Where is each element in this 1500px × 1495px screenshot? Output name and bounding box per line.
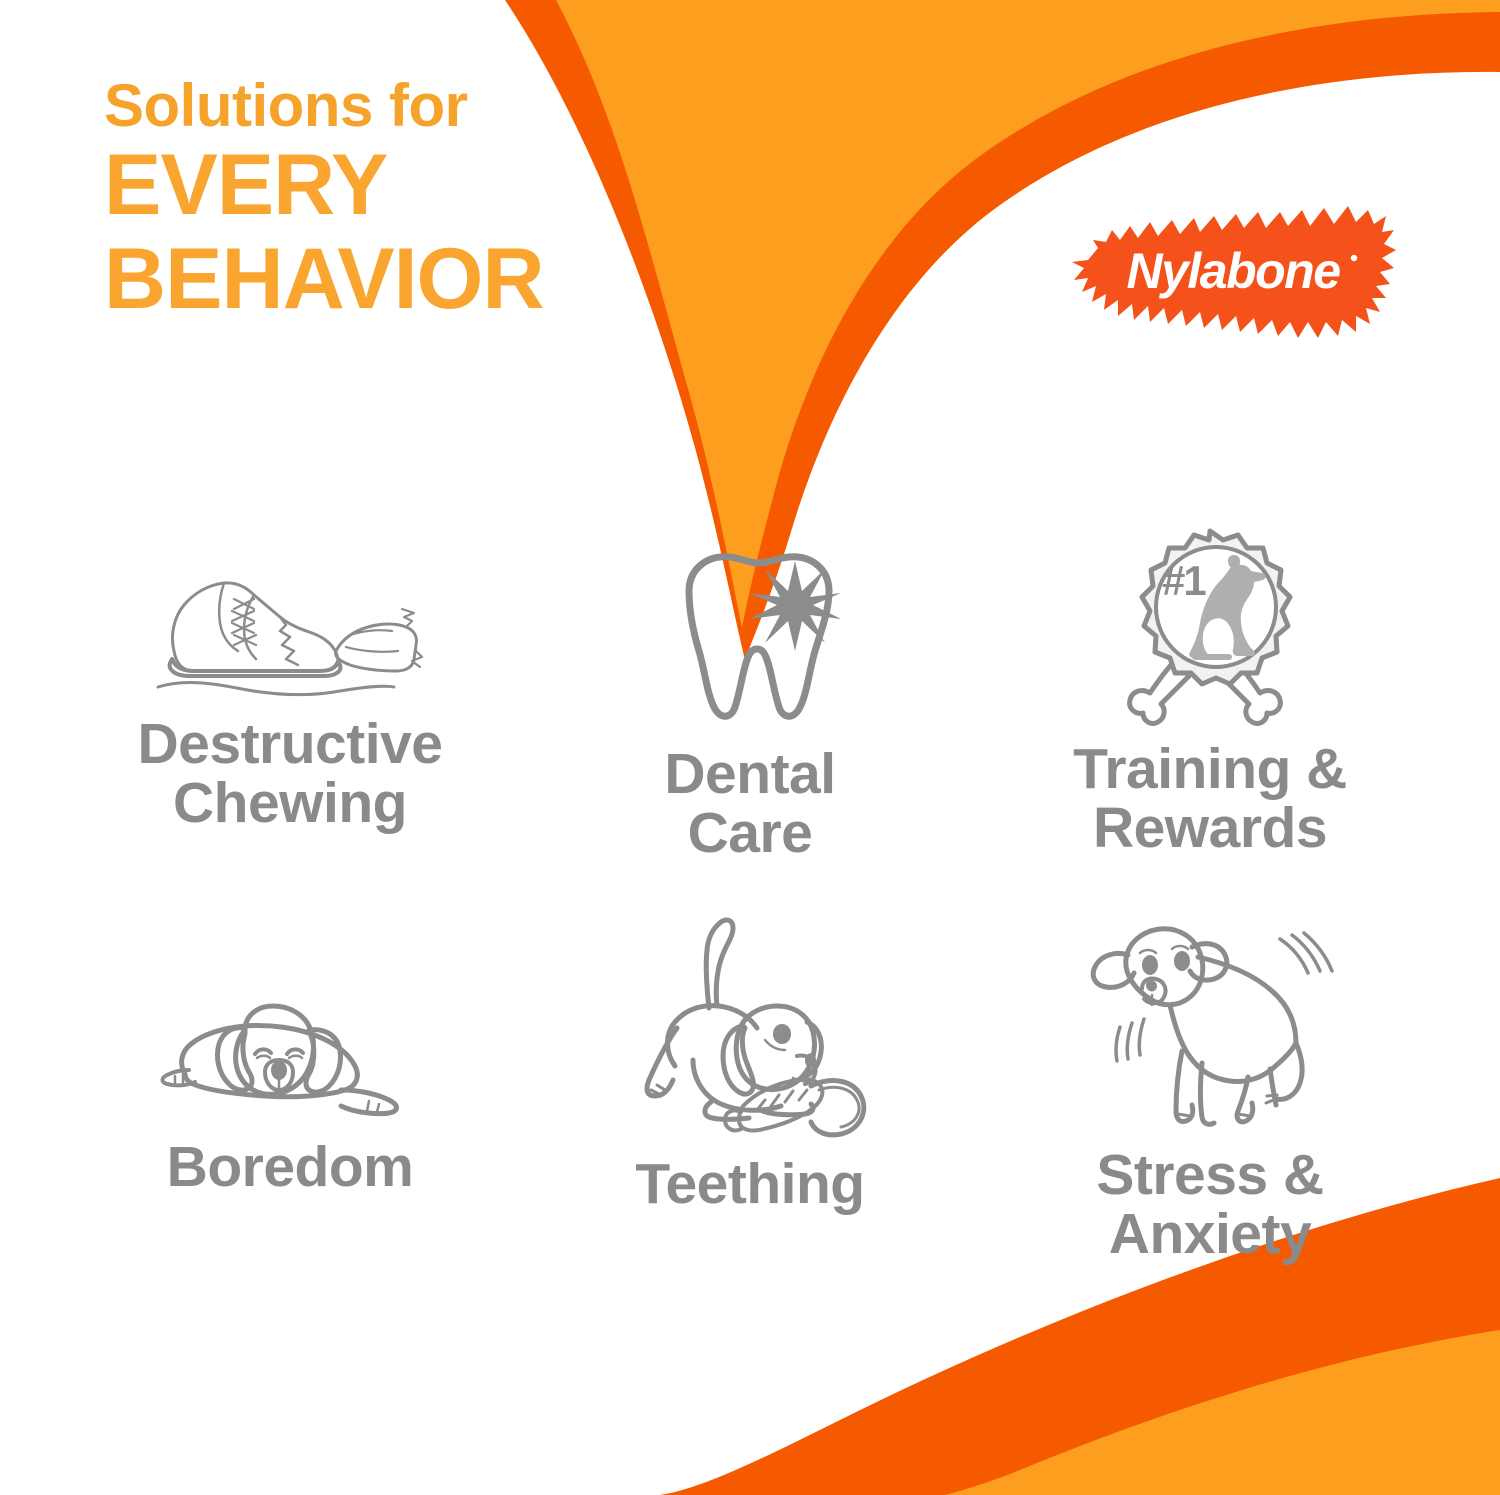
behavior-label: Boredom — [167, 1138, 414, 1197]
logo-trademark-mark — [1351, 255, 1357, 261]
bored-lying-dog-icon — [145, 913, 435, 1128]
rosette-rank-text: #1 — [1162, 557, 1206, 604]
behavior-item-boredom[interactable]: Boredom — [60, 895, 520, 1275]
behavior-item-training-rewards[interactable]: #1 Training & Rewards — [980, 505, 1440, 895]
behavior-item-destructive-chewing[interactable]: Destructive Chewing — [60, 505, 520, 895]
dog-nose — [1146, 980, 1157, 991]
nylabone-logo[interactable]: Nylabone — [1068, 196, 1398, 361]
behavior-item-stress-anxiety[interactable]: Stress & Anxiety — [980, 895, 1440, 1275]
behavior-label: Destructive Chewing — [138, 715, 443, 832]
shake-motion-lines-left — [1116, 1019, 1144, 1061]
behavior-item-dental-care[interactable]: Dental Care — [520, 505, 980, 895]
headline-line-1: Solutions for — [104, 76, 744, 136]
dog-nose — [271, 1061, 287, 1080]
dog-eye-right — [1174, 951, 1190, 971]
puppy-chewing-toy-icon — [615, 895, 885, 1145]
puppy-eye — [773, 1024, 791, 1044]
headline-line-3: BEHAVIOR — [104, 236, 744, 324]
chewed-shoe-icon — [150, 505, 430, 705]
bottom-swoosh-inner — [945, 1330, 1500, 1495]
behavior-label: Training & Rewards — [1073, 740, 1347, 857]
dog-eye-left — [1142, 955, 1158, 975]
nylabone-logo-graphic: Nylabone — [1068, 196, 1398, 361]
behavior-item-teething[interactable]: Teething — [520, 895, 980, 1275]
header-block: Solutions for EVERY BEHAVIOR — [104, 76, 744, 323]
shake-motion-lines-right — [1280, 933, 1332, 973]
chew-toy-icon — [725, 1079, 864, 1135]
logo-wordmark: Nylabone — [1126, 243, 1340, 299]
behavior-label: Stress & Anxiety — [1096, 1146, 1323, 1263]
anxious-shaking-dog-icon — [1080, 901, 1340, 1136]
behavior-label: Teething — [635, 1155, 864, 1214]
award-rosette-dog-icon: #1 — [1110, 505, 1310, 730]
sparkling-tooth-icon — [645, 505, 855, 735]
behavior-label: Dental Care — [664, 745, 835, 862]
headline-line-2: EVERY — [104, 142, 744, 230]
poster-canvas: Solutions for EVERY BEHAVIOR Nylabone — [0, 0, 1500, 1495]
behavior-grid: Destructive Chewing Dental Care — [60, 505, 1440, 1275]
